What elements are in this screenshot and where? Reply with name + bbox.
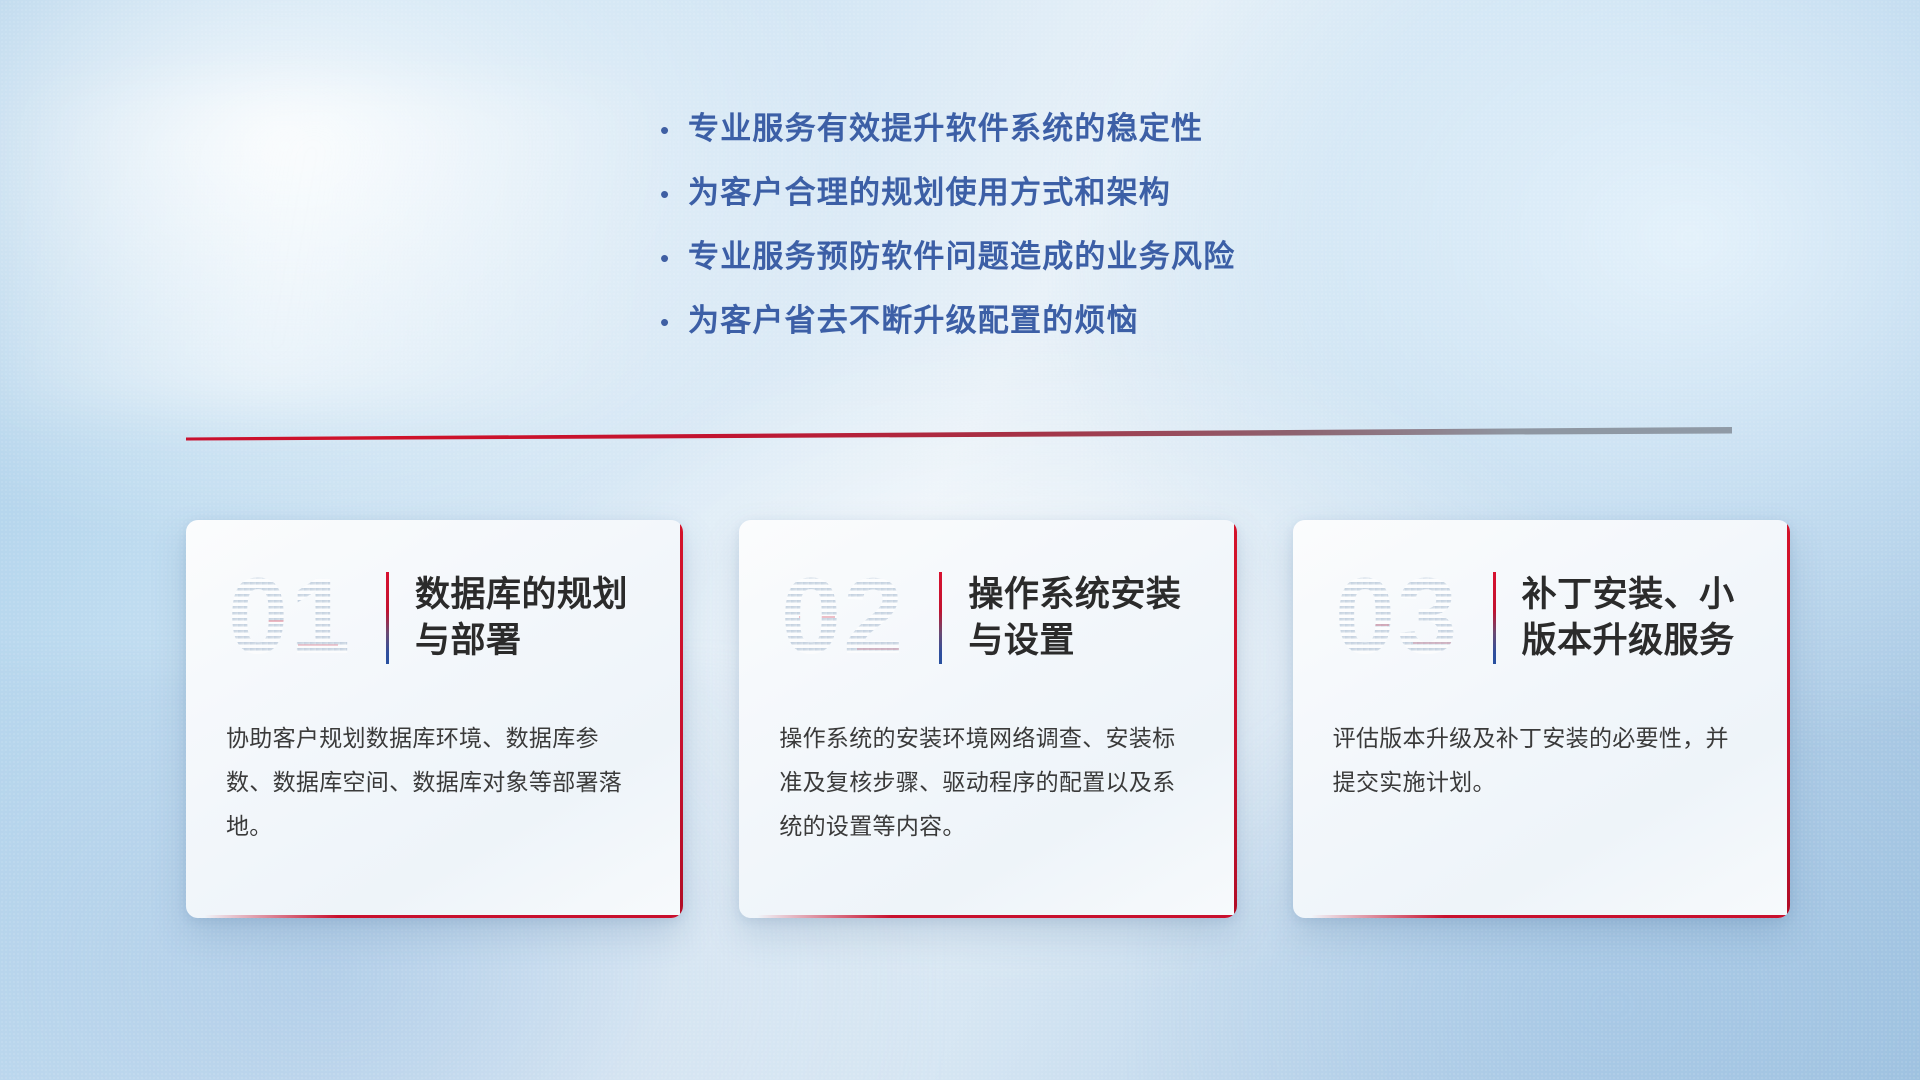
bullet-item: • 为客户合理的规划使用方式和架构 — [660, 176, 1235, 210]
service-card[interactable]: 03 补丁安装、小版本升级服务 评估版本升级及补丁安装的必要性，并提交实施计划。 — [1293, 520, 1790, 918]
bullet-item-label: 专业服务预防软件问题造成的业务风险 — [688, 240, 1235, 274]
service-card-list: 01 数据库的规划与部署 协助客户规划数据库环境、数据库参数、数据库空间、数据库… — [186, 520, 1790, 920]
card-title-divider — [939, 572, 942, 664]
bullet-marker-icon: • — [660, 117, 688, 143]
card-number-watermark: 02 — [779, 558, 929, 678]
slide-content: • 专业服务有效提升软件系统的稳定性 • 为客户合理的规划使用方式和架构 • 专… — [0, 0, 1920, 1080]
card-number-watermark: 01 — [226, 558, 376, 678]
card-description: 操作系统的安装环境网络调查、安装标准及复核步骤、驱动程序的配置以及系统的设置等内… — [739, 716, 1236, 848]
card-title: 补丁安装、小版本升级服务 — [1522, 572, 1756, 664]
card-bottom-accent-bar — [204, 915, 683, 918]
card-bottom-accent-bar — [1311, 915, 1790, 918]
card-title: 数据库的规划与部署 — [415, 572, 649, 664]
card-title: 操作系统安装与设置 — [968, 572, 1202, 664]
card-bottom-accent-bar — [757, 915, 1236, 918]
card-header: 02 操作系统安装与设置 — [739, 520, 1236, 716]
card-title-divider — [1493, 572, 1496, 664]
bullet-item: • 专业服务有效提升软件系统的稳定性 — [660, 112, 1235, 146]
card-number-watermark: 03 — [1333, 558, 1483, 678]
service-card[interactable]: 02 操作系统安装与设置 操作系统的安装环境网络调查、安装标准及复核步骤、驱动程… — [739, 520, 1236, 918]
bullet-marker-icon: • — [660, 309, 688, 335]
bullet-item-label: 为客户合理的规划使用方式和架构 — [688, 176, 1171, 210]
bullet-item: • 专业服务预防软件问题造成的业务风险 — [660, 240, 1235, 274]
section-divider — [186, 427, 1732, 445]
bullet-item-label: 为客户省去不断升级配置的烦恼 — [688, 304, 1139, 338]
card-title-divider — [386, 572, 389, 664]
benefits-bullet-list: • 专业服务有效提升软件系统的稳定性 • 为客户合理的规划使用方式和架构 • 专… — [660, 112, 1235, 368]
bullet-marker-icon: • — [660, 245, 688, 271]
bullet-item: • 为客户省去不断升级配置的烦恼 — [660, 304, 1235, 338]
card-header: 03 补丁安装、小版本升级服务 — [1293, 520, 1790, 716]
card-description: 协助客户规划数据库环境、数据库参数、数据库空间、数据库对象等部署落地。 — [186, 716, 683, 848]
card-description: 评估版本升级及补丁安装的必要性，并提交实施计划。 — [1293, 716, 1790, 804]
service-card[interactable]: 01 数据库的规划与部署 协助客户规划数据库环境、数据库参数、数据库空间、数据库… — [186, 520, 683, 918]
card-header: 01 数据库的规划与部署 — [186, 520, 683, 716]
bullet-marker-icon: • — [660, 181, 688, 207]
bullet-item-label: 专业服务有效提升软件系统的稳定性 — [688, 112, 1203, 146]
